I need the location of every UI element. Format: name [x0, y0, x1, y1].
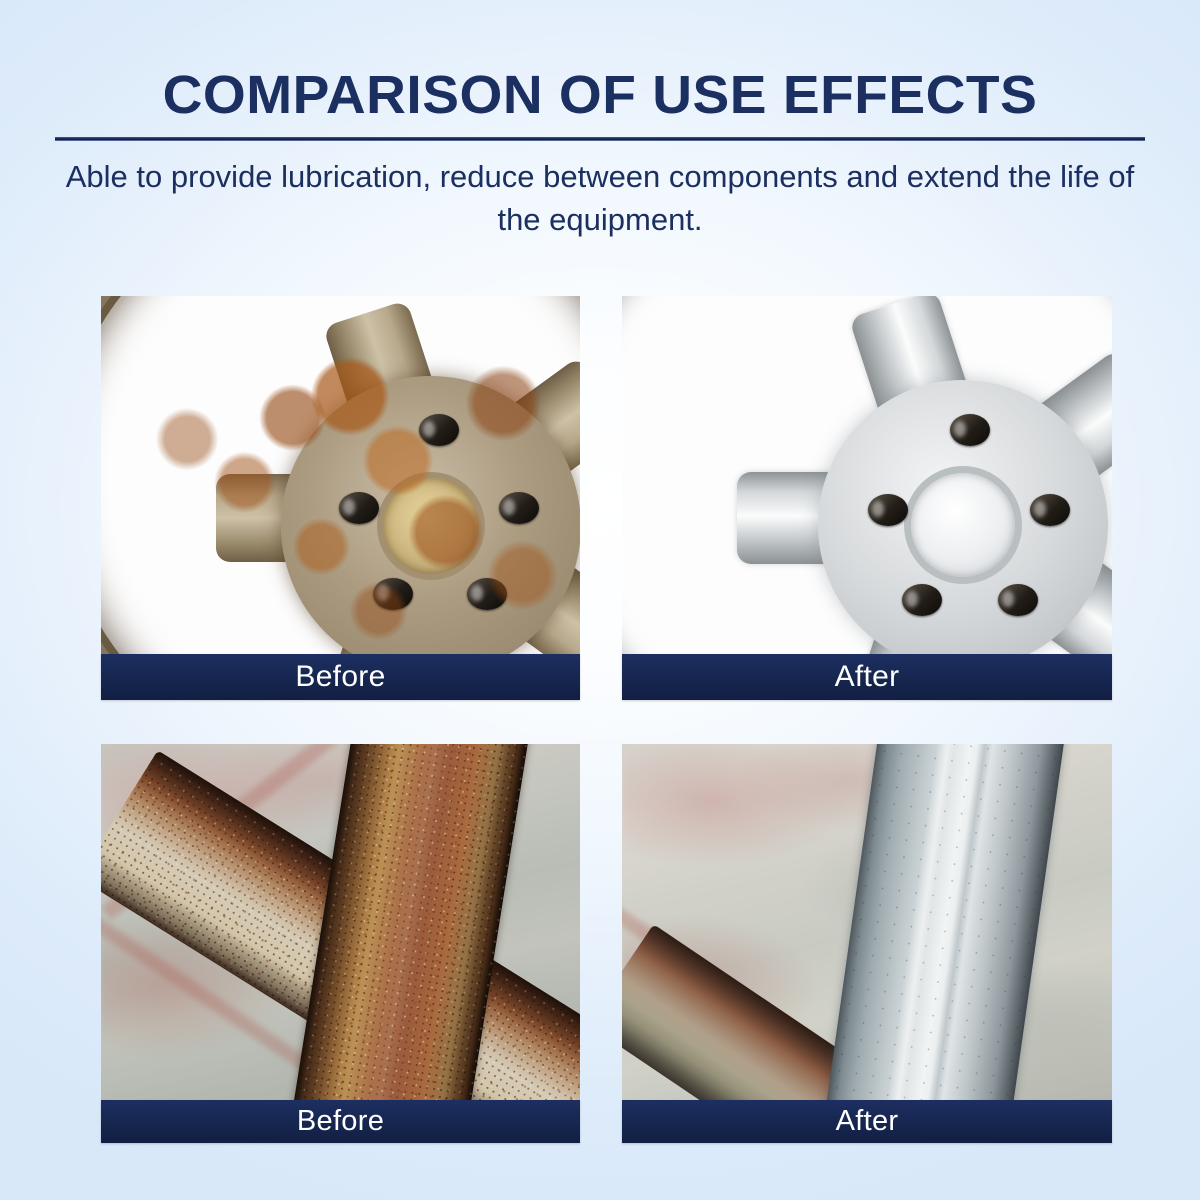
wheel-scene-rusty: [101, 296, 580, 654]
page-title: COMPARISON OF USE EFFECTS: [0, 0, 1200, 122]
label-bar-before: Before: [101, 654, 580, 700]
label-text: After: [836, 1107, 899, 1136]
label-bar-after: After: [622, 654, 1112, 700]
photo-clean-pipe: [622, 744, 1112, 1100]
comparison-card-pipe-after: After: [622, 744, 1112, 1143]
photo-rusty-wheel: [101, 296, 580, 654]
lug-nut: [950, 414, 990, 446]
wheel-scene-clean: [622, 296, 1112, 654]
comparison-card-wheel-before: Before: [101, 296, 580, 700]
lug-nut: [499, 492, 539, 524]
wheel-center-cap: [911, 473, 1015, 577]
comparison-card-wheel-after: After: [622, 296, 1112, 700]
lug-nut: [373, 578, 413, 610]
marketing-comparison-page: COMPARISON OF USE EFFECTS Able to provid…: [0, 0, 1200, 1200]
label-bar-before: Before: [101, 1100, 580, 1143]
label-text: After: [835, 662, 900, 692]
wheel-center-cap: [383, 478, 479, 574]
comparison-card-pipe-before: Before: [101, 744, 580, 1143]
comparison-grid: Before: [101, 296, 1112, 1144]
lug-nut: [868, 494, 908, 526]
photo-clean-wheel: [622, 296, 1112, 654]
lug-nut: [339, 492, 379, 524]
lug-nut: [419, 414, 459, 446]
title-divider-rule: [55, 137, 1145, 141]
page-subtitle: Able to provide lubrication, reduce betw…: [50, 156, 1150, 242]
page-header: COMPARISON OF USE EFFECTS Able to provid…: [0, 0, 1200, 122]
photo-rusty-pipes: [101, 744, 580, 1100]
label-bar-after: After: [622, 1100, 1112, 1143]
lug-nut: [467, 578, 507, 610]
lug-nut: [1030, 494, 1070, 526]
label-text: Before: [295, 662, 385, 692]
lug-nut: [902, 584, 942, 616]
lug-nut: [998, 584, 1038, 616]
label-text: Before: [297, 1107, 384, 1136]
